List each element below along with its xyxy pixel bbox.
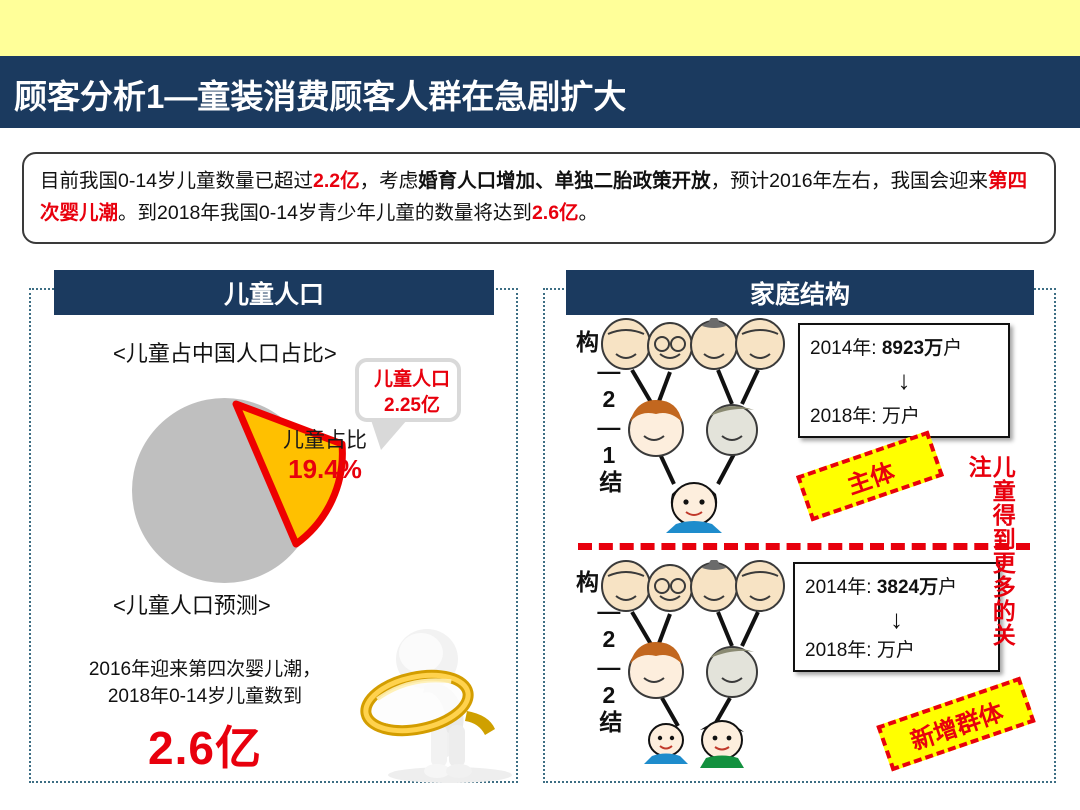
summary-highlight-22yi: 2.2亿 xyxy=(313,170,360,192)
summary-highlight-26yi: 2.6亿 xyxy=(532,202,579,224)
household-count-box-421: 2014年: 8923万户 ↓ 2018年: 万户 xyxy=(798,323,1010,438)
family-structure-header: 家庭结构 xyxy=(566,270,1034,315)
pie-slice-value: 19.4% xyxy=(260,454,390,485)
children-population-header: 儿童人口 xyxy=(54,270,494,315)
household-2014-suffix-421: 户 xyxy=(943,338,962,359)
summary-callout-box: 目前我国0-14岁儿童数量已超过2.2亿，考虑婚育人口增加、单独二胎政策开放，预… xyxy=(22,152,1056,244)
household-2014-suffix-422: 户 xyxy=(938,577,957,598)
down-arrow-icon-421: ↓ xyxy=(898,367,911,393)
forecast-text: 2016年迎来第四次婴儿潮， 2018年0-14岁儿童数到 xyxy=(60,656,350,710)
vertical-note-children-attention: 儿童得到更多的关注 xyxy=(966,455,1014,670)
slide-root: 顾客分析1—童装消费顾客人群在急剧扩大 目前我国0-14岁儿童数量已超过2.2亿… xyxy=(0,0,1080,810)
family-tree-421-illustration xyxy=(600,318,810,533)
forecast-value: 2.6亿 xyxy=(60,712,350,778)
page-title: 顾客分析1—童装消费顾客人群在急剧扩大 xyxy=(14,70,626,118)
household-2014-prefix-422: 2014年: xyxy=(805,577,877,598)
pie-chart-caption: <儿童占中国人口占比> xyxy=(113,336,337,368)
child-girl xyxy=(644,724,688,764)
family-tree-422-illustration xyxy=(600,560,810,775)
household-2018-line-421: 2018年: 万户 xyxy=(810,401,920,428)
household-2018-line-422: 2018年: 万户 xyxy=(805,635,915,662)
household-2014-line-421: 2014年: 8923万户 xyxy=(810,333,962,360)
callout-bubble-tail xyxy=(371,420,407,450)
child-boy xyxy=(700,721,744,768)
household-2014-value-421: 8923万 xyxy=(882,338,943,359)
summary-seg-1: 目前我国0-14岁儿童数量已超过 xyxy=(40,170,313,192)
household-2014-line-422: 2014年: 3824万户 xyxy=(805,572,957,599)
section-divider xyxy=(578,543,1030,550)
callout-line-1: 儿童人口 xyxy=(374,369,450,390)
child-girl xyxy=(666,483,722,533)
summary-bold-policy: 婚育人口增加、单独二胎政策开放 xyxy=(418,170,711,192)
summary-seg-3: ，考虑 xyxy=(360,170,419,192)
forecast-line-1: 2016年迎来第四次婴儿潮， xyxy=(89,659,321,680)
grandparents-row xyxy=(602,318,784,369)
forecast-caption: <儿童人口预测> xyxy=(113,588,271,620)
summary-text: 目前我国0-14岁儿童数量已超过2.2亿，考虑婚育人口增加、单独二胎政策开放，预… xyxy=(40,165,1040,229)
down-arrow-icon-422: ↓ xyxy=(890,606,903,632)
summary-seg-5: ，预计2016年左右，我国会迎来 xyxy=(711,170,988,192)
household-2014-value-422: 3824万 xyxy=(877,577,938,598)
mascot-with-magnifier-icon xyxy=(355,625,535,785)
summary-seg-9: 。 xyxy=(579,202,599,224)
parents-row xyxy=(629,400,757,456)
children-population-callout: 儿童人口 2.25亿 xyxy=(355,358,461,422)
household-2014-prefix-421: 2014年: xyxy=(810,338,882,359)
top-yellow-band xyxy=(0,0,1080,56)
children-share-pie-chart: 儿童占比 19.4% xyxy=(132,392,397,592)
callout-text: 儿童人口 2.25亿 xyxy=(359,367,465,419)
summary-seg-7: 。到2018年我国0-14岁青少年儿童的数量将达到 xyxy=(118,202,532,224)
callout-line-2: 2.25亿 xyxy=(384,395,440,416)
forecast-line-2: 2018年0-14岁儿童数到 xyxy=(108,686,302,707)
grandparents-row xyxy=(602,560,784,611)
parents-row xyxy=(629,642,757,698)
